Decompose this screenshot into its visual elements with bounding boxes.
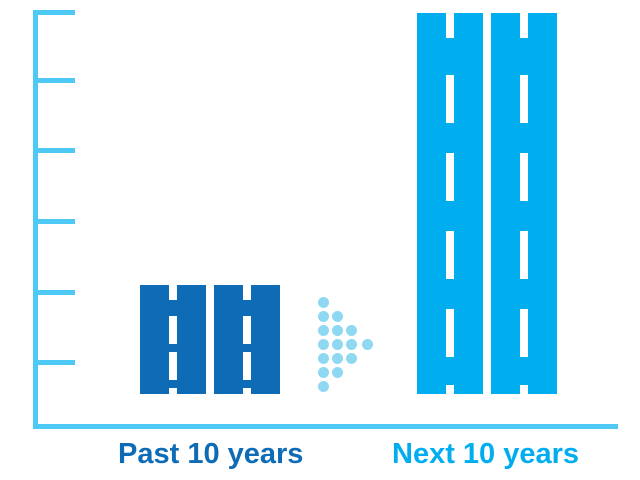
lane-dash: [520, 309, 528, 357]
lane-dash: [446, 309, 454, 357]
lane-dash: [446, 385, 454, 395]
y-axis-tick-1: [33, 360, 75, 365]
y-axis-tick-3: [33, 219, 75, 224]
lane-dash: [446, 12, 454, 38]
x-axis-baseline: [33, 424, 618, 429]
lane-dash: [520, 12, 528, 38]
road-lane: [214, 285, 280, 394]
bar-past-10-years: [140, 285, 280, 394]
lane-dash: [520, 231, 528, 279]
lane-dash: [243, 284, 251, 300]
road-lane: [491, 13, 557, 394]
chart-canvas: Past 10 years Next 10 years: [0, 0, 640, 480]
bar-next-10-years: [417, 13, 557, 394]
lane-dash: [446, 231, 454, 279]
lane-dash: [243, 316, 251, 344]
category-label-next: Next 10 years: [392, 437, 579, 471]
lane-dash: [520, 75, 528, 123]
lane-dash: [520, 385, 528, 395]
lane-dash: [243, 352, 251, 380]
y-axis-tick-4: [33, 148, 75, 153]
road-lane: [417, 13, 483, 394]
lane-dash: [169, 352, 177, 380]
category-label-past: Past 10 years: [118, 437, 303, 471]
dotted-arrow-right-icon: [318, 297, 380, 385]
lane-dash: [520, 153, 528, 201]
y-axis-tick-6: [33, 10, 75, 15]
lane-dash: [446, 75, 454, 123]
road-lane: [140, 285, 206, 394]
lane-dash: [169, 284, 177, 300]
y-axis-tick-2: [33, 290, 75, 295]
lane-dash: [169, 316, 177, 344]
y-axis-tick-5: [33, 78, 75, 83]
lane-dash: [169, 388, 177, 400]
lane-dash: [446, 153, 454, 201]
lane-dash: [243, 388, 251, 400]
